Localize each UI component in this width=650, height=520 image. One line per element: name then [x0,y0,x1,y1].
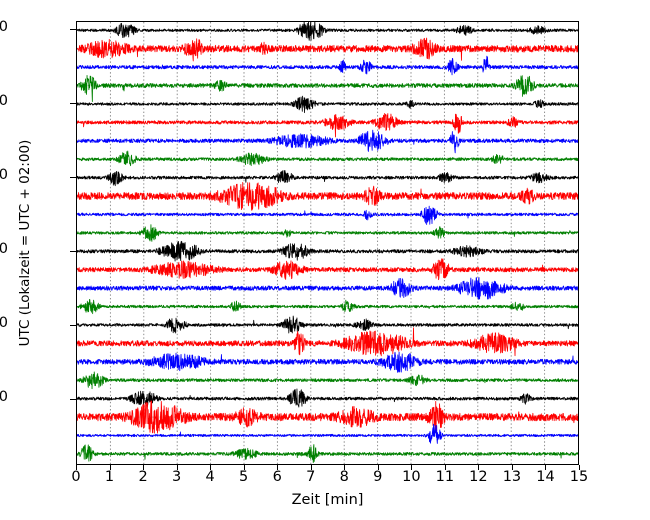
y-tick-mark [70,177,76,178]
x-axis-label: Zeit [min] [76,492,579,508]
seismic-trace [77,277,578,299]
y-tick-label: 09:00 [0,242,8,257]
seismic-trace [77,38,578,61]
seismic-trace [77,96,578,113]
seismic-trace [77,401,578,433]
seismic-trace [77,299,578,313]
y-tick-label: 08:00 [0,168,8,183]
seismic-trace [77,206,578,224]
y-tick-mark [70,325,76,326]
seismic-trace [77,22,578,40]
y-tick-label: 10:00 [0,316,8,331]
y-tick-mark [70,29,76,30]
y-axis-label: UTC (Lokalzeit = UTC + 02:00) [16,21,34,465]
seismic-trace [77,316,578,333]
y-tick-label: 07:00 [0,94,8,109]
seismic-trace [77,352,578,372]
seismic-trace [77,75,578,101]
seismic-trace [77,241,578,261]
seismogram-figure: UTC (Lokalzeit = UTC + 02:00) 06:0007:00… [0,0,650,520]
seismic-trace [77,389,578,407]
seismic-trace [77,56,578,75]
seismic-trace [77,445,578,463]
y-tick-mark [70,103,76,104]
seismic-trace [77,151,578,166]
y-tick-label: 06:00 [0,20,8,35]
seismic-trace [77,130,578,153]
plot-area [76,21,579,465]
seismic-trace [77,259,578,280]
seismic-trace [77,328,578,356]
y-tick-mark [70,399,76,400]
seismic-trace [77,372,578,389]
trace-layer [77,22,578,464]
x-tick-label: 15 [559,470,599,485]
seismic-trace [77,225,578,242]
seismic-trace [77,170,578,185]
seismic-trace [77,113,578,137]
y-tick-mark [70,251,76,252]
seismic-trace [77,182,578,210]
y-tick-label: 11:00 [0,390,8,405]
